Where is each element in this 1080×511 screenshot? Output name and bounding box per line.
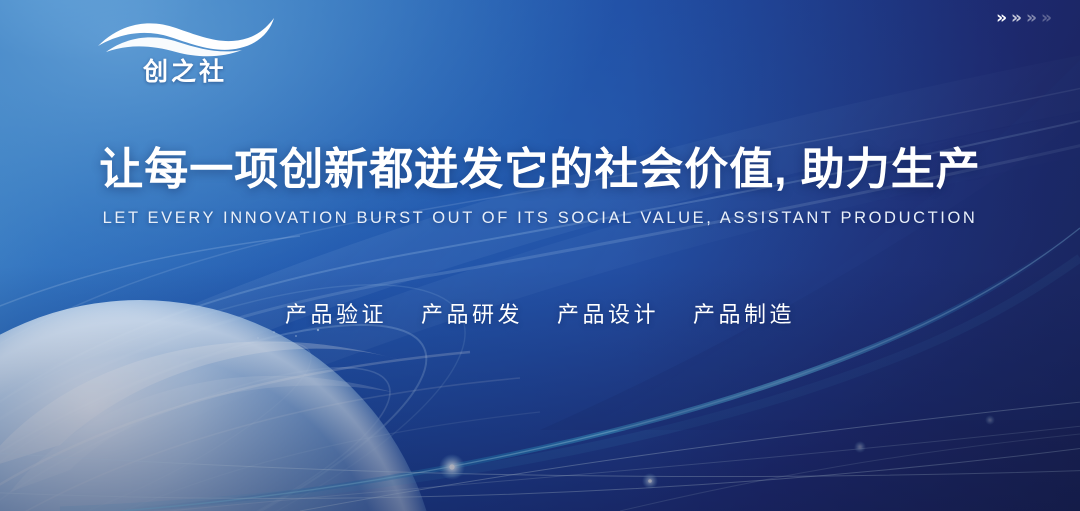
ribbon-bands xyxy=(0,40,1080,511)
chevron-double-right-icon-1: » xyxy=(996,10,1007,27)
page-title: 让每一项创新都迸发它的社会价值, 助力生产 xyxy=(0,146,1080,194)
network-lines xyxy=(0,400,1080,511)
keyword-item-4[interactable]: 产品制造 xyxy=(693,302,795,328)
sphere-light-streaks xyxy=(0,352,540,511)
hero-text-block: 让每一项创新都迸发它的社会价值, 助力生产 LET EVERY INNOVATI… xyxy=(0,146,1080,227)
hero-banner: 创之社 » » » » 让每一项创新都迸发它的社会价值, 助力生产 LET EV… xyxy=(0,0,1080,511)
keyword-item-2[interactable]: 产品研发 xyxy=(421,302,523,328)
page-subtitle: LET EVERY INNOVATION BURST OUT OF ITS SO… xyxy=(0,210,1080,227)
network-nodes xyxy=(439,415,995,489)
left-arc-streaks xyxy=(0,78,1080,511)
orbit-rings xyxy=(0,217,505,511)
keyword-item-3[interactable]: 产品设计 xyxy=(557,302,659,328)
wave-ribbons-logo-icon xyxy=(92,6,278,58)
brand-logo[interactable]: 创之社 xyxy=(92,6,292,96)
chevron-double-right-icon-2: » xyxy=(1011,10,1022,27)
chevron-double-right-icon-4: » xyxy=(1041,10,1052,27)
sphere-graphic xyxy=(0,300,440,511)
service-keyword-list: 产品验证 产品研发 产品设计 产品制造 xyxy=(0,302,1080,328)
right-light-wedge xyxy=(600,60,1080,420)
chevron-decoration: » » » » xyxy=(996,10,1052,27)
sparkle-dots xyxy=(257,329,319,339)
cyan-accent-arc xyxy=(60,228,1080,511)
chevron-double-right-icon-3: » xyxy=(1026,10,1037,27)
brand-name: 创之社 xyxy=(92,60,278,85)
keyword-item-1[interactable]: 产品验证 xyxy=(285,302,387,328)
